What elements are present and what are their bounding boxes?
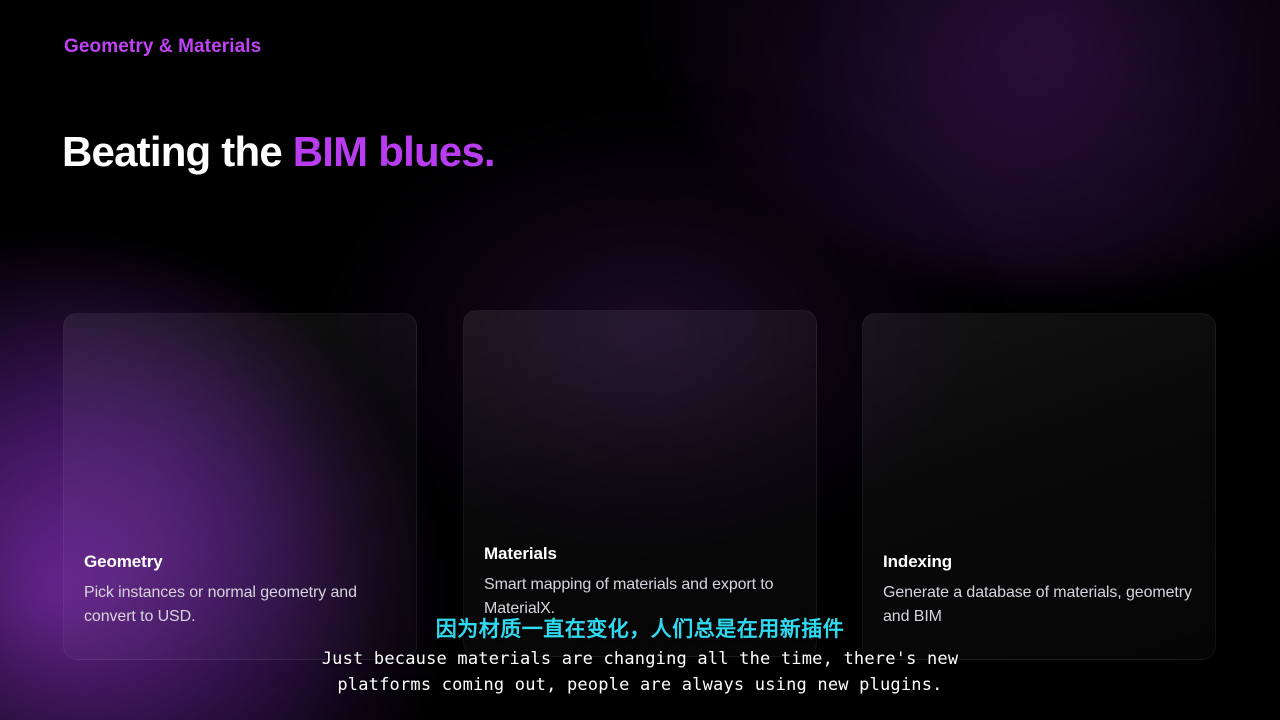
subtitle-english-line-2: platforms coming out, people are always … — [0, 672, 1280, 698]
card-materials-body: Materials Smart mapping of materials and… — [484, 544, 798, 621]
page-title: Beating the BIM blues. — [62, 128, 495, 176]
presentation-slide: Geometry & Materials Beating the BIM blu… — [0, 0, 1280, 720]
headline-accent: BIM blues. — [293, 128, 495, 175]
card-materials-title: Materials — [484, 544, 798, 564]
card-geometry[interactable]: Geometry Pick instances or normal geomet… — [63, 313, 417, 660]
slide-eyebrow: Geometry & Materials — [64, 36, 261, 58]
card-materials[interactable]: Materials Smart mapping of materials and… — [463, 310, 817, 657]
card-indexing-description: Generate a database of materials, geomet… — [883, 581, 1197, 629]
card-geometry-description: Pick instances or normal geometry and co… — [84, 581, 398, 629]
card-geometry-title: Geometry — [84, 552, 398, 572]
card-indexing[interactable]: Indexing Generate a database of material… — [862, 313, 1216, 660]
card-indexing-body: Indexing Generate a database of material… — [883, 552, 1197, 629]
card-materials-description: Smart mapping of materials and export to… — [484, 573, 798, 621]
card-geometry-body: Geometry Pick instances or normal geomet… — [84, 552, 398, 629]
headline-lead: Beating the — [62, 128, 293, 175]
card-indexing-title: Indexing — [883, 552, 1197, 572]
background-glow-top-right — [640, 0, 1280, 280]
